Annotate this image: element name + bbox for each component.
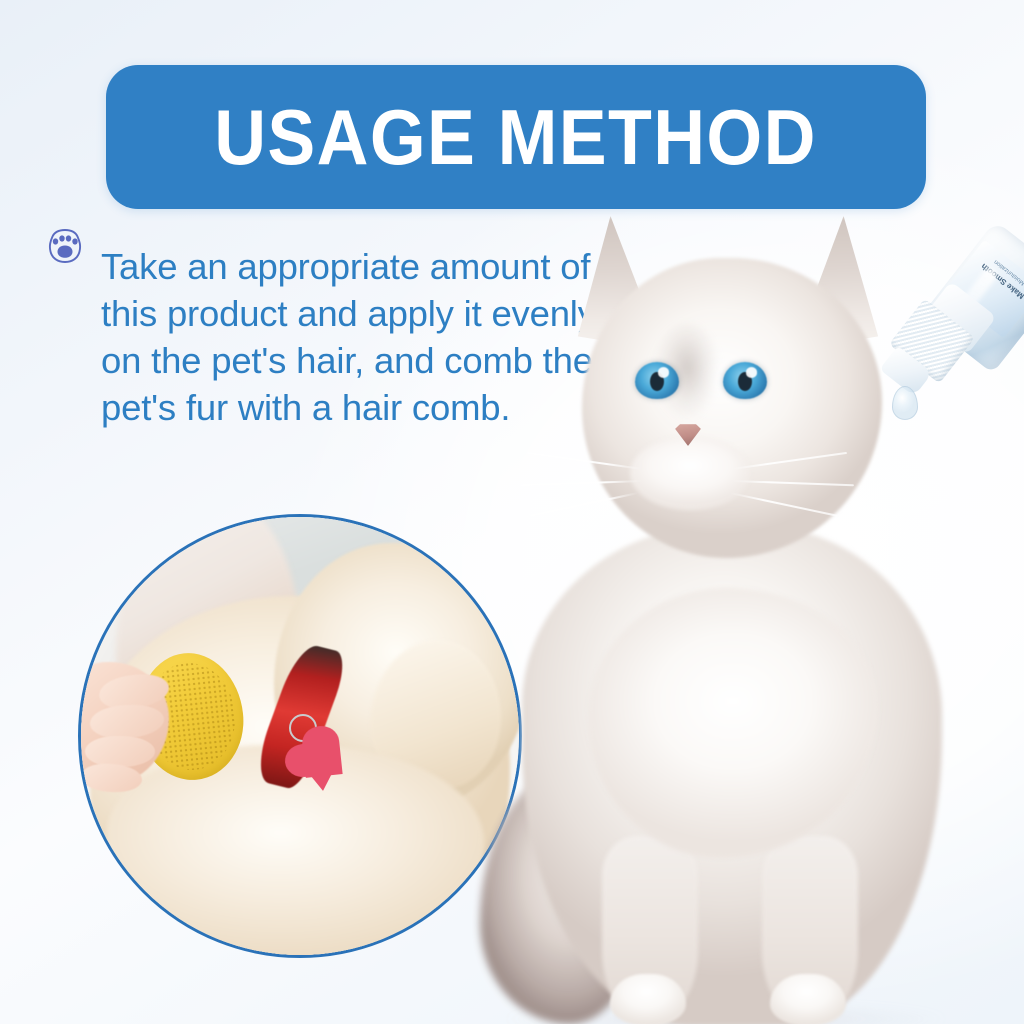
cat-eye bbox=[723, 362, 767, 399]
grooming-demo-photo bbox=[78, 514, 522, 958]
inset-scene bbox=[81, 517, 519, 955]
product-bottle: Make Smooth Moisturization bbox=[886, 252, 1024, 452]
eye-glint bbox=[746, 367, 757, 377]
usage-method-banner: USAGE METHOD bbox=[106, 65, 926, 209]
cat-paw bbox=[770, 974, 846, 1024]
cat-muzzle bbox=[630, 436, 750, 510]
cat-head bbox=[582, 258, 882, 558]
heart-name-tag bbox=[303, 741, 343, 778]
eye-glint bbox=[658, 367, 669, 377]
page-title: USAGE METHOD bbox=[215, 98, 818, 176]
infographic-canvas: USAGE METHOD Take an appropriate amount … bbox=[0, 0, 1024, 1024]
paw-print-icon bbox=[44, 227, 86, 267]
finger bbox=[85, 736, 155, 767]
cat-paw bbox=[610, 974, 686, 1024]
liquid-droplet bbox=[892, 386, 918, 420]
cat-eye bbox=[635, 362, 679, 399]
